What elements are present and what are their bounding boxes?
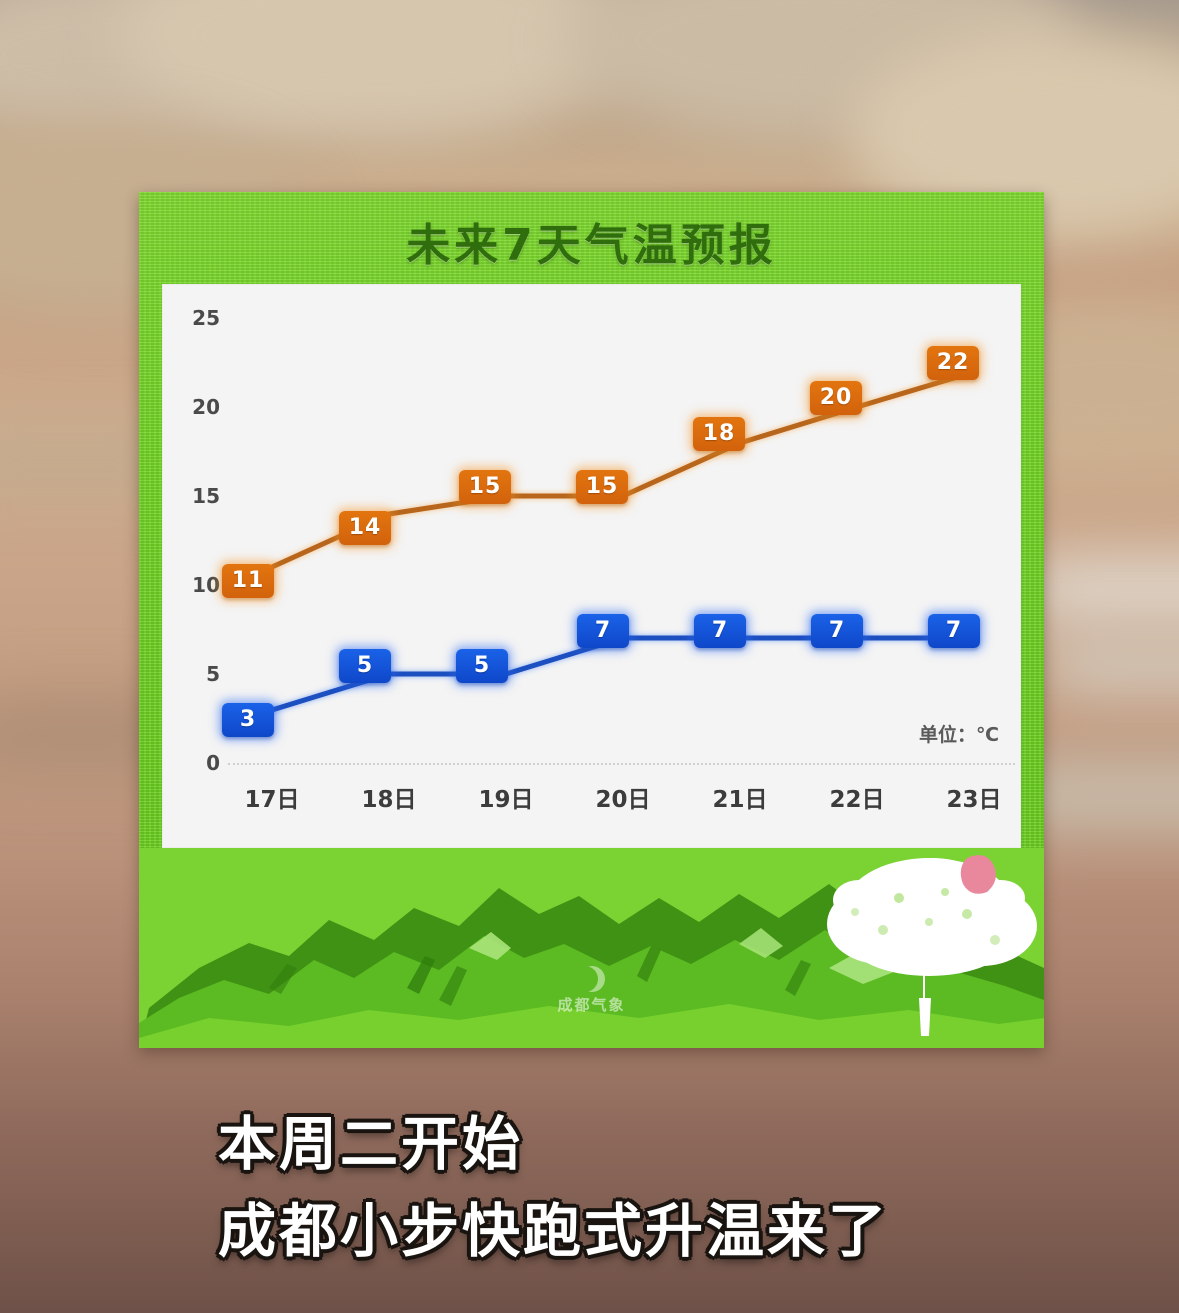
caption-line-2: 成都小步快跑式升温来了 (0, 1195, 1179, 1268)
video-caption: 本周二开始 成都小步快跑式升温来了 (0, 1108, 1179, 1267)
low-temp-label: 5 (456, 649, 508, 683)
scenery-illustration: 成都气象 (139, 848, 1044, 1048)
forecast-card: 未来7天气温预报 (139, 192, 1044, 1048)
caption-line-1: 本周二开始 (0, 1108, 1179, 1181)
high-temp-label: 15 (459, 470, 511, 504)
watermark-label: 成都气象 (557, 994, 625, 1015)
x-axis-tick: 19日 (461, 780, 551, 814)
y-axis-tick: 25 (180, 306, 220, 330)
x-axis-tick: 22日 (812, 780, 902, 814)
low-temp-label: 7 (811, 614, 863, 648)
chart-panel: 25 20 15 10 5 0 17日 18日 19日 20日 21日 22日 … (162, 284, 1021, 848)
high-temp-label: 18 (693, 417, 745, 451)
x-axis-tick: 20日 (578, 780, 668, 814)
high-temp-label: 14 (339, 511, 391, 545)
mountains-graphic (139, 848, 1044, 1048)
x-axis-tick: 17日 (227, 780, 317, 814)
x-axis-tick: 21日 (695, 780, 785, 814)
card-title: 未来7天气温预报 (139, 210, 1044, 272)
y-axis-tick: 15 (180, 484, 220, 508)
low-temp-label: 7 (694, 614, 746, 648)
high-temp-label: 20 (810, 381, 862, 415)
x-axis-tick: 18日 (344, 780, 434, 814)
y-axis-tick: 5 (180, 662, 220, 686)
moon-cloud-icon (578, 966, 604, 992)
y-axis-tick: 20 (180, 395, 220, 419)
high-temp-label: 22 (927, 346, 979, 380)
cloud-band (1040, 640, 1179, 692)
high-temp-label: 11 (222, 564, 274, 598)
watermark: 成都气象 (557, 966, 625, 1015)
low-temp-label: 7 (928, 614, 980, 648)
y-axis-tick: 10 (180, 573, 220, 597)
pink-blossom (961, 855, 996, 894)
plot-area: 25 20 15 10 5 0 17日 18日 19日 20日 21日 22日 … (162, 284, 1021, 848)
low-temp-label: 3 (222, 703, 274, 737)
low-temp-label: 7 (577, 614, 629, 648)
unit-label: 单位：℃ (919, 720, 999, 747)
low-temp-label: 5 (339, 649, 391, 683)
chart-lines (162, 284, 1021, 848)
high-temp-label: 15 (576, 470, 628, 504)
y-axis-tick: 0 (180, 751, 220, 775)
x-axis-tick: 23日 (929, 780, 1019, 814)
